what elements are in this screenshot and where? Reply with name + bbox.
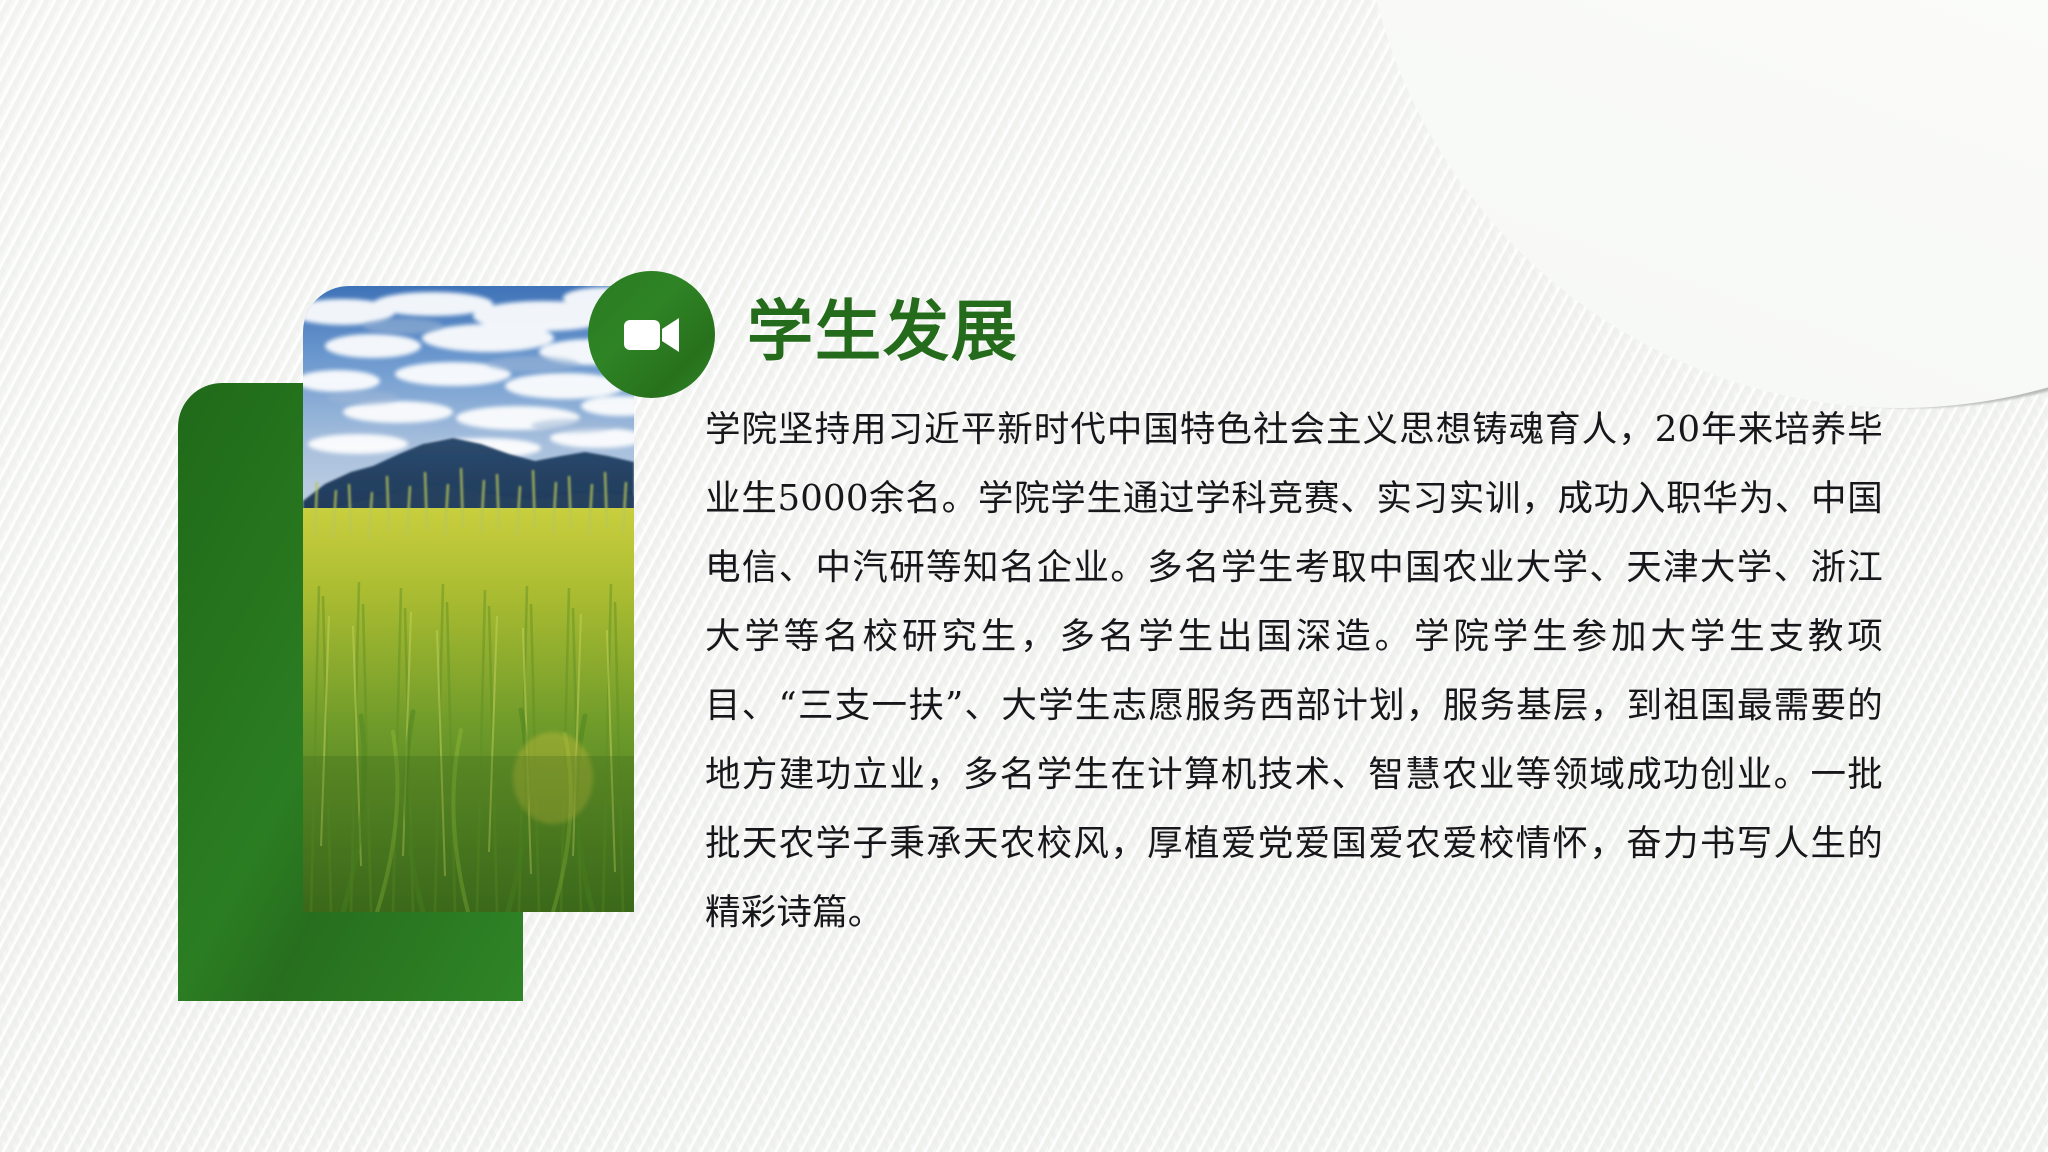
- video-camera-icon: [624, 316, 680, 354]
- corner-arc-white-overlay: [1360, 0, 2048, 408]
- page-title: 学生发展: [747, 278, 1019, 374]
- slide-canvas: 学生发展 学院坚持用习近平新时代中国特色社会主义思想铸魂育人，20年来培养毕业生…: [0, 0, 2048, 1152]
- body-paragraph: 学院坚持用习近平新时代中国特色社会主义思想铸魂育人，20年来培养毕业生5000余…: [705, 395, 1883, 947]
- video-badge[interactable]: [588, 271, 715, 398]
- field-photo: [303, 286, 634, 912]
- photo-card: [303, 286, 634, 912]
